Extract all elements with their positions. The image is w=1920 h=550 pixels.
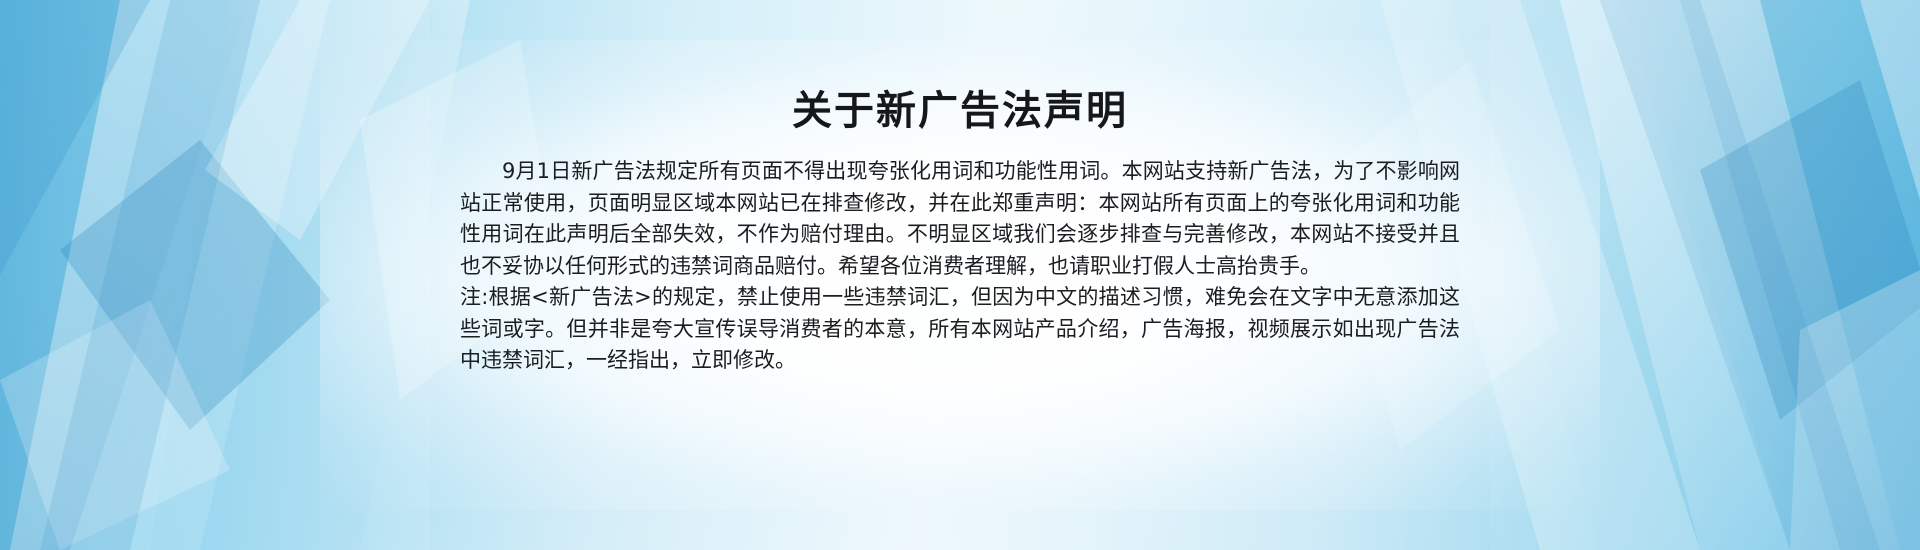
statement-paragraph-note: 注:根据<新广告法>的规定，禁止使用一些违禁词汇，但因为中文的描述习惯，难免会在… <box>460 282 1460 377</box>
banner-content: 关于新广告法声明 9月1日新广告法规定所有页面不得出现夸张化用词和功能性用词。本… <box>0 0 1920 550</box>
statement-body: 9月1日新广告法规定所有页面不得出现夸张化用词和功能性用词。本网站支持新广告法，… <box>460 156 1460 377</box>
statement-paragraph-main: 9月1日新广告法规定所有页面不得出现夸张化用词和功能性用词。本网站支持新广告法，… <box>460 156 1460 282</box>
page-title: 关于新广告法声明 <box>792 0 1128 136</box>
advertising-law-statement-banner: 关于新广告法声明 9月1日新广告法规定所有页面不得出现夸张化用词和功能性用词。本… <box>0 0 1920 550</box>
